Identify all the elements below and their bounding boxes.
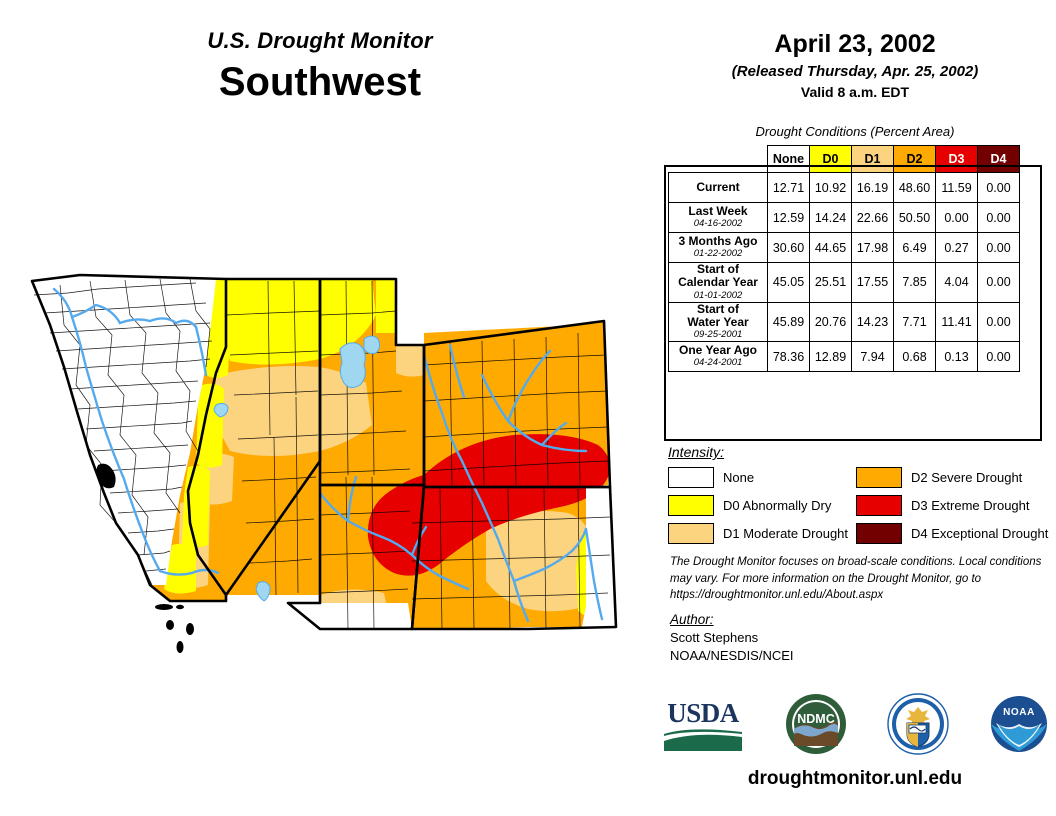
legend-label: D0 Abnormally Dry	[723, 498, 831, 513]
column-header-none: None	[768, 146, 810, 173]
cell-d1: 7.94	[852, 342, 894, 372]
row-label-date: 01-22-2002	[669, 249, 767, 260]
row-label-date: 09-25-2001	[669, 330, 767, 341]
cell-d0: 12.89	[810, 342, 852, 372]
table-body: Current12.7110.9216.1948.6011.590.00Last…	[669, 173, 1020, 372]
row-label-text: Start ofCalendar Year	[669, 263, 767, 290]
cell-d1: 17.98	[852, 233, 894, 263]
cell-none: 45.05	[768, 263, 810, 303]
legend-swatch	[668, 523, 714, 544]
region-title: Southwest	[0, 60, 640, 105]
noaa-logo: NOAA	[988, 692, 1050, 756]
drought-map	[20, 255, 650, 675]
cell-d3: 11.41	[936, 302, 978, 342]
cell-none: 45.89	[768, 302, 810, 342]
row-label-date: 04-24-2001	[669, 358, 767, 369]
cell-d2: 0.68	[894, 342, 936, 372]
release-date: (Released Thursday, Apr. 25, 2002)	[665, 63, 1045, 80]
legend-label: D2 Severe Drought	[911, 470, 1022, 485]
cell-d4: 0.00	[978, 233, 1020, 263]
legend-title: Intensity:	[668, 444, 1043, 460]
cell-d1: 22.66	[852, 203, 894, 233]
svg-text:NDMC: NDMC	[798, 712, 836, 726]
row-label-text: Start ofWater Year	[669, 303, 767, 330]
drought-conditions-table: None D0 D1 D2 D3 D4 Current12.7110.9216.…	[668, 145, 1020, 372]
cell-d0: 14.24	[810, 203, 852, 233]
drought-monitor-page: U.S. Drought Monitor Southwest April 23,…	[0, 0, 1056, 816]
row-label-date: 04-16-2002	[669, 219, 767, 230]
column-header-d2: D2	[894, 146, 936, 173]
logo-row: USDA NDMC	[660, 690, 1050, 758]
author-name: Scott Stephens	[670, 630, 1042, 645]
cell-none: 78.36	[768, 342, 810, 372]
table-caption: Drought Conditions (Percent Area)	[665, 124, 1045, 139]
row-label-text: 3 Months Ago	[669, 235, 767, 248]
website-url: droughtmonitor.unl.edu	[665, 768, 1045, 790]
row-label-text: Last Week	[669, 205, 767, 218]
title-block: U.S. Drought Monitor Southwest	[0, 28, 640, 105]
cell-none: 12.71	[768, 173, 810, 203]
row-label: 3 Months Ago01-22-2002	[669, 233, 768, 263]
legend-label: D4 Exceptional Drought	[911, 526, 1048, 541]
program-title: U.S. Drought Monitor	[0, 28, 640, 54]
disclaimer-note: The Drought Monitor focuses on broad-sca…	[670, 554, 1042, 604]
legend-item: D4 Exceptional Drought	[856, 523, 1044, 544]
column-header-d4: D4	[978, 146, 1020, 173]
row-label: Start ofWater Year09-25-2001	[669, 302, 768, 342]
cell-d3: 0.27	[936, 233, 978, 263]
cell-d3: 0.00	[936, 203, 978, 233]
cell-d0: 44.65	[810, 233, 852, 263]
cell-d0: 10.92	[810, 173, 852, 203]
date-header: April 23, 2002 (Released Thursday, Apr. …	[665, 30, 1045, 100]
cell-d2: 7.85	[894, 263, 936, 303]
map-svg	[20, 255, 650, 675]
legend-item: D3 Extreme Drought	[856, 495, 1044, 516]
cell-none: 12.59	[768, 203, 810, 233]
ndmc-logo: NDMC	[785, 692, 847, 756]
table-row: Start ofCalendar Year01-01-200245.0525.5…	[669, 263, 1020, 303]
cell-d2: 50.50	[894, 203, 936, 233]
cell-d4: 0.00	[978, 263, 1020, 303]
map-date: April 23, 2002	[665, 30, 1045, 59]
channel-islands	[155, 604, 194, 653]
legend-swatch	[668, 467, 714, 488]
legend-item: D2 Severe Drought	[856, 467, 1044, 488]
legend-grid: NoneD2 Severe DroughtD0 Abnormally DryD3…	[668, 467, 1043, 544]
row-label: Current	[669, 173, 768, 203]
table-row: Last Week04-16-200212.5914.2422.6650.500…	[669, 203, 1020, 233]
legend-label: D1 Moderate Drought	[723, 526, 848, 541]
intensity-legend: Intensity: NoneD2 Severe DroughtD0 Abnor…	[668, 444, 1043, 544]
table-corner-cell	[669, 146, 768, 173]
row-label: Start ofCalendar Year01-01-2002	[669, 263, 768, 303]
legend-swatch	[856, 467, 902, 488]
row-label: Last Week04-16-2002	[669, 203, 768, 233]
cell-d3: 11.59	[936, 173, 978, 203]
row-label-text: One Year Ago	[669, 344, 767, 357]
column-header-d0: D0	[810, 146, 852, 173]
row-label-text: Current	[669, 181, 767, 194]
table-row: One Year Ago04-24-200178.3612.897.940.68…	[669, 342, 1020, 372]
table-header-row: None D0 D1 D2 D3 D4	[669, 146, 1020, 173]
cell-d0: 20.76	[810, 302, 852, 342]
column-header-d1: D1	[852, 146, 894, 173]
cell-none: 30.60	[768, 233, 810, 263]
legend-item: None	[668, 467, 856, 488]
cell-d1: 17.55	[852, 263, 894, 303]
row-label-date: 01-01-2002	[669, 291, 767, 302]
cell-d2: 48.60	[894, 173, 936, 203]
legend-item: D1 Moderate Drought	[668, 523, 856, 544]
cell-d1: 16.19	[852, 173, 894, 203]
legend-swatch	[668, 495, 714, 516]
cell-d0: 25.51	[810, 263, 852, 303]
usda-logo: USDA	[660, 692, 746, 756]
cell-d4: 0.00	[978, 342, 1020, 372]
cell-d3: 0.13	[936, 342, 978, 372]
cell-d3: 4.04	[936, 263, 978, 303]
legend-label: None	[723, 470, 754, 485]
svg-text:NOAA: NOAA	[1003, 707, 1035, 718]
table-row: Start ofWater Year09-25-200145.8920.7614…	[669, 302, 1020, 342]
table-row: 3 Months Ago01-22-200230.6044.6517.986.4…	[669, 233, 1020, 263]
legend-swatch	[856, 495, 902, 516]
row-label: One Year Ago04-24-2001	[669, 342, 768, 372]
cell-d4: 0.00	[978, 173, 1020, 203]
legend-item: D0 Abnormally Dry	[668, 495, 856, 516]
cell-d1: 14.23	[852, 302, 894, 342]
author-heading: Author:	[670, 612, 1042, 627]
column-header-d3: D3	[936, 146, 978, 173]
cell-d2: 7.71	[894, 302, 936, 342]
author-block: Author: Scott Stephens NOAA/NESDIS/NCEI	[670, 612, 1042, 663]
author-affiliation: NOAA/NESDIS/NCEI	[670, 648, 1042, 663]
cell-d4: 0.00	[978, 302, 1020, 342]
cell-d4: 0.00	[978, 203, 1020, 233]
table-row: Current12.7110.9216.1948.6011.590.00	[669, 173, 1020, 203]
valid-time: Valid 8 a.m. EDT	[665, 84, 1045, 100]
svg-text:USDA: USDA	[667, 698, 740, 728]
legend-swatch	[856, 523, 902, 544]
legend-label: D3 Extreme Drought	[911, 498, 1030, 513]
commerce-seal-logo	[887, 692, 949, 756]
cell-d2: 6.49	[894, 233, 936, 263]
